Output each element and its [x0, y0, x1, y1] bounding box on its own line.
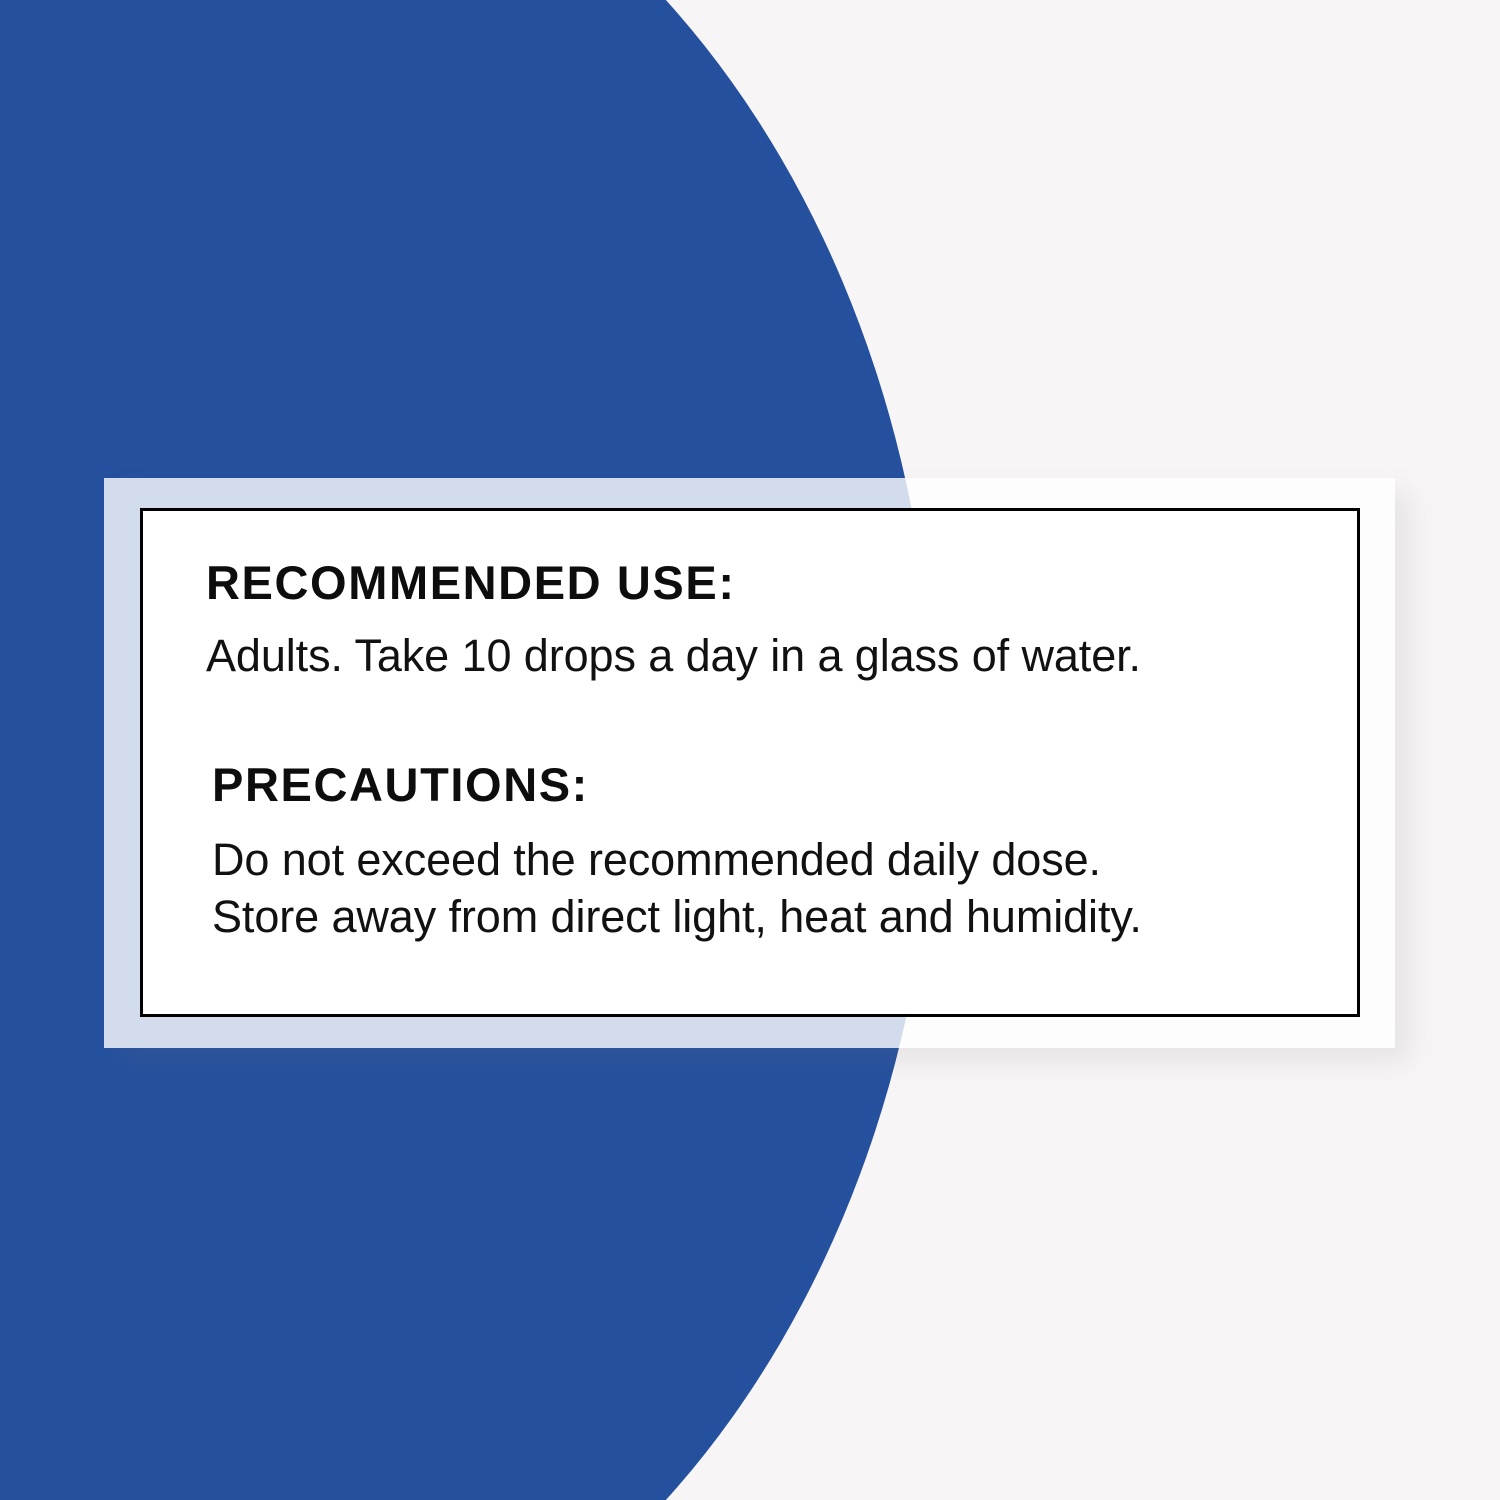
- recommended-use-text: Adults. Take 10 drops a day in a glass o…: [206, 627, 1337, 685]
- product-label-graphic: RECOMMENDED USE: Adults. Take 10 drops a…: [0, 0, 1500, 1500]
- recommended-use-heading: RECOMMENDED USE:: [206, 559, 1337, 606]
- precautions-text-line-2: Store away from direct light, heat and h…: [212, 888, 1337, 946]
- precautions-text-line-1: Do not exceed the recommended daily dose…: [212, 831, 1337, 889]
- precautions-heading: PRECAUTIONS:: [212, 761, 1337, 808]
- label-card-content: RECOMMENDED USE: Adults. Take 10 drops a…: [206, 559, 1337, 946]
- label-card: RECOMMENDED USE: Adults. Take 10 drops a…: [140, 508, 1360, 1017]
- precautions-text: Do not exceed the recommended daily dose…: [212, 831, 1337, 946]
